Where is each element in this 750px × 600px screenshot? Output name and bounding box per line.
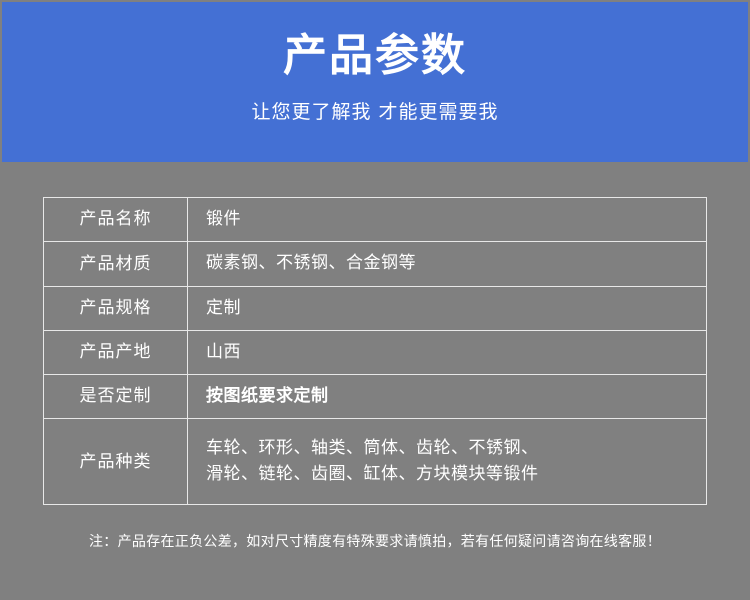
spec-value-line: 按图纸要求定制 — [206, 386, 329, 407]
header-banner: 产品参数 让您更了解我 才能更需要我 — [2, 2, 748, 162]
spec-label: 产品种类 — [44, 419, 188, 504]
spec-label: 产品材质 — [44, 242, 188, 285]
table-row: 产品产地山西 — [43, 330, 707, 374]
product-parameters-page: 产品参数 让您更了解我 才能更需要我 产品名称锻件产品材质碳素钢、不锈钢、合金钢… — [0, 0, 750, 600]
spec-value-line: 车轮、环形、轴类、筒体、齿轮、不锈钢、 — [206, 438, 539, 459]
table-row: 产品名称锻件 — [43, 197, 707, 241]
spec-value-line: 锻件 — [206, 209, 241, 230]
page-subtitle: 让您更了解我 才能更需要我 — [251, 102, 498, 123]
table-row: 产品规格定制 — [43, 286, 707, 330]
spec-label: 产品名称 — [44, 198, 188, 241]
spec-value: 定制 — [188, 287, 706, 330]
table-row: 产品材质碳素钢、不锈钢、合金钢等 — [43, 241, 707, 285]
footer-note: 注：产品存在正负公差，如对尺寸精度有特殊要求请慎拍，若有任何疑问请咨询在线客服！ — [0, 533, 750, 551]
spec-value: 车轮、环形、轴类、筒体、齿轮、不锈钢、滑轮、链轮、齿圈、缸体、方块模块等锻件 — [188, 419, 706, 504]
table-row: 是否定制按图纸要求定制 — [43, 374, 707, 418]
spec-label: 产品规格 — [44, 287, 188, 330]
spec-value-line: 山西 — [206, 342, 241, 363]
spec-value-line: 碳素钢、不锈钢、合金钢等 — [206, 253, 416, 274]
spec-value: 碳素钢、不锈钢、合金钢等 — [188, 242, 706, 285]
page-title: 产品参数 — [283, 32, 467, 80]
spec-value-line: 滑轮、链轮、齿圈、缸体、方块模块等锻件 — [206, 464, 539, 485]
spec-label: 产品产地 — [44, 331, 188, 374]
spec-value: 山西 — [188, 331, 706, 374]
table-row: 产品种类车轮、环形、轴类、筒体、齿轮、不锈钢、滑轮、链轮、齿圈、缸体、方块模块等… — [43, 418, 707, 505]
spec-value: 锻件 — [188, 198, 706, 241]
product-spec-table: 产品名称锻件产品材质碳素钢、不锈钢、合金钢等产品规格定制产品产地山西是否定制按图… — [43, 197, 707, 505]
spec-value: 按图纸要求定制 — [188, 375, 706, 418]
spec-label: 是否定制 — [44, 375, 188, 418]
spec-value-line: 定制 — [206, 298, 241, 319]
